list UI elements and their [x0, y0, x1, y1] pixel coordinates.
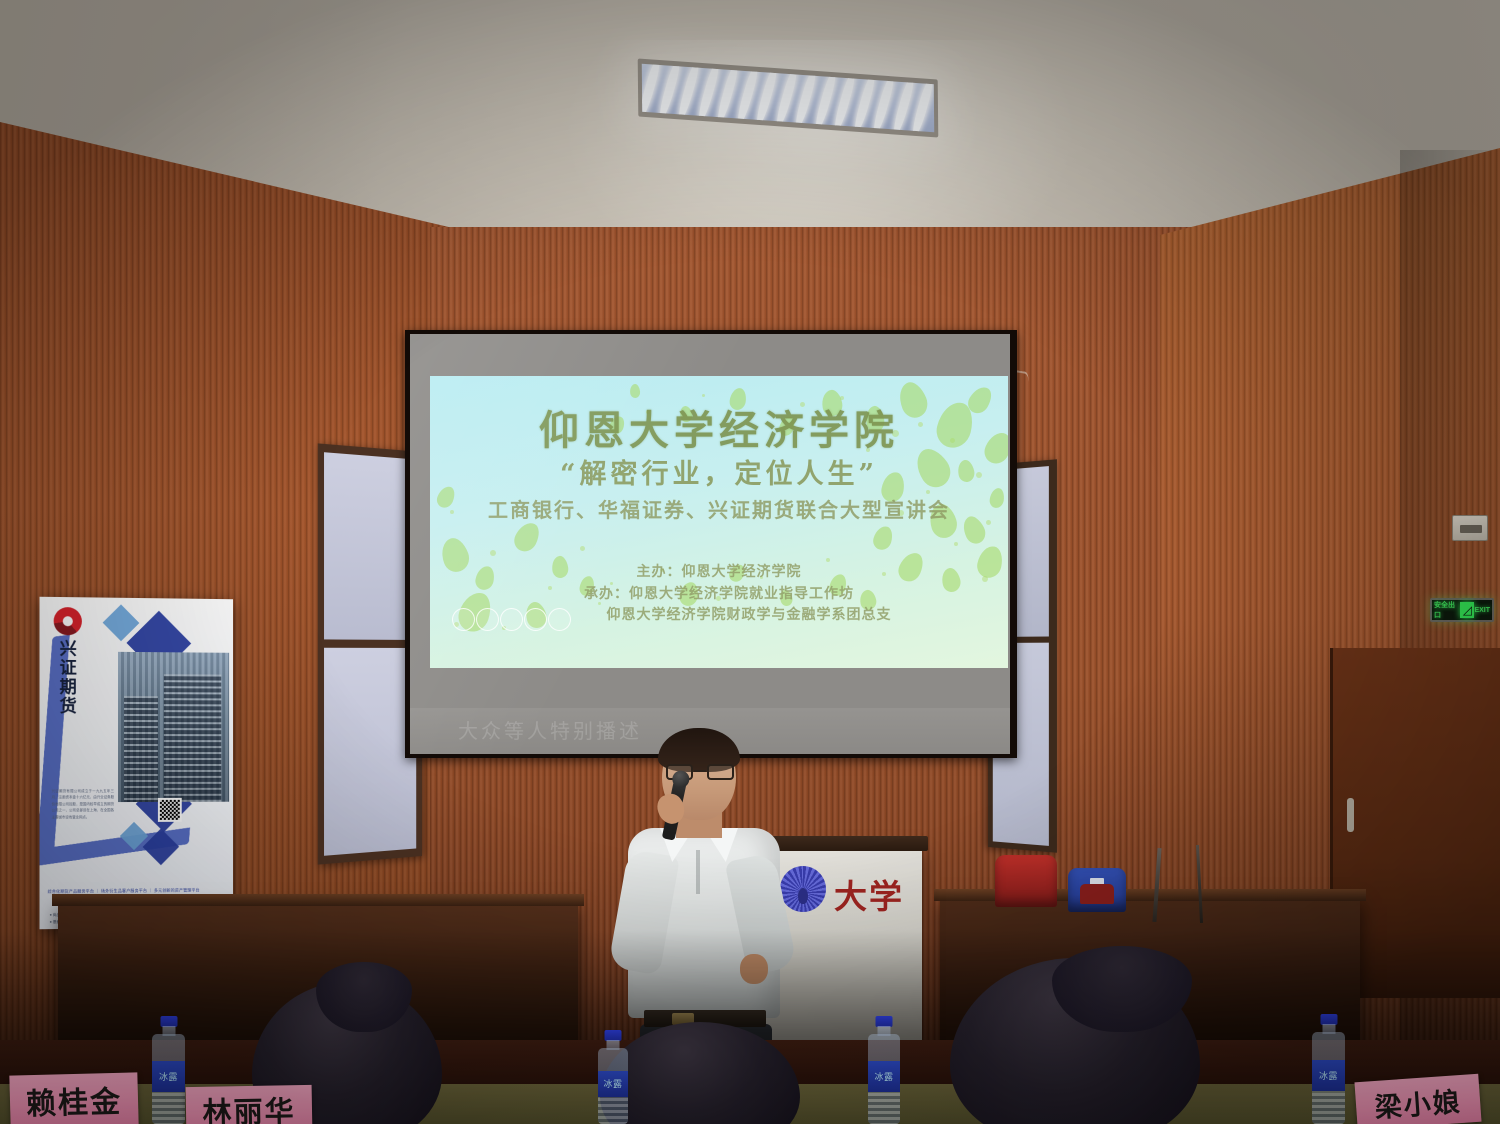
slide-dot-decoration	[954, 542, 958, 546]
building-tower	[124, 696, 158, 802]
slide-leaf-decoration	[511, 519, 544, 556]
projection-screen: 仰恩大学经济学院 “解密行业，定位人生” 工商银行、华福证券、兴证期货联合大型宣…	[410, 334, 1010, 754]
banner-brand-name: 兴证期货	[56, 639, 74, 716]
bottle-label: 冰露	[598, 1071, 628, 1097]
bottle-label-text: 冰露	[874, 1070, 893, 1083]
qr-code	[158, 798, 182, 822]
name-card: 梁小娘	[1354, 1074, 1481, 1124]
bottle-body: 冰露	[598, 1048, 628, 1124]
water-bottle[interactable]: 冰露	[868, 1016, 900, 1124]
name-card-text: 赖桂金	[25, 1077, 122, 1123]
speaker-hand-right	[740, 954, 768, 984]
banner-building-photo	[118, 652, 229, 802]
exit-sign-chinese-label: 安全出口	[1434, 600, 1460, 620]
lecture-hall-photo: 安全出口 ◿ EXIT 仰恩大学经济学院 “解密行业，定位人生” 工商银行、华福…	[0, 0, 1500, 1124]
light-louver	[891, 78, 916, 132]
bottle-label-text: 冰露	[603, 1077, 622, 1090]
exit-sign-panel: 安全出口 ◿ EXIT	[1432, 600, 1492, 620]
lens-right	[707, 764, 734, 780]
presentation-slide: 仰恩大学经济学院 “解密行业，定位人生” 工商银行、华福证券、兴证期货联合大型宣…	[430, 376, 1008, 668]
bottle-body: 冰露	[152, 1034, 185, 1124]
organizer-line: 承办：仰恩大学经济学院就业指导工作坊	[430, 584, 1008, 606]
slide-sponsor-line: 工商银行、华福证券、兴证期货联合大型宣讲会	[430, 494, 1008, 523]
stacked-stool-blue	[1068, 868, 1126, 912]
bottle-ridges	[152, 1093, 185, 1124]
organizer-line: 仰恩大学经济学院财政学与金融学系团总支	[430, 605, 1008, 627]
podium-label: 大学	[834, 870, 904, 918]
light-louver	[676, 64, 701, 120]
whiteboard-pane	[324, 452, 416, 640]
bottle-label: 冰露	[152, 1061, 185, 1092]
bottle-body: 冰露	[868, 1034, 900, 1124]
bottle-label: 冰露	[868, 1061, 900, 1092]
emergency-exit-sign: 安全出口 ◿ EXIT	[1430, 598, 1494, 622]
door-handle[interactable]	[1347, 798, 1354, 832]
slide-title: 仰恩大学经济学院	[430, 398, 1008, 456]
light-louver	[852, 76, 877, 132]
speaker-shirt-placket	[696, 850, 700, 894]
name-card-text: 林丽华	[202, 1088, 296, 1124]
glasses-bridge	[694, 770, 706, 772]
banner-body-text: 兴证期货有限公司成立于一九九五年三月，注册资本金十六亿元，由兴业证券股份有限公司…	[52, 788, 114, 821]
light-louver	[735, 68, 760, 124]
slide-dot-decoration	[490, 550, 496, 556]
water-bottle[interactable]: 冰露	[1312, 1014, 1345, 1124]
slide-leaf-decoration	[629, 384, 640, 399]
light-louver	[774, 70, 799, 126]
water-bottle[interactable]: 冰露	[152, 1016, 185, 1124]
light-louver	[657, 64, 682, 118]
bottle-label: 冰露	[1312, 1060, 1345, 1091]
light-louver	[910, 80, 934, 132]
bottle-label-text: 冰露	[1319, 1069, 1338, 1082]
stacked-stool-red	[995, 855, 1057, 907]
bottle-ridges	[1312, 1093, 1345, 1124]
whiteboard-pane	[324, 648, 416, 856]
slide-leaf-decoration	[871, 524, 895, 552]
slide-dot-decoration	[702, 394, 705, 397]
rollup-banner: 兴证期货 兴证期货有限公司成立于一九九五年三月，注册资本金十六亿元，由兴业证券股…	[40, 597, 234, 929]
name-card-text: 梁小娘	[1373, 1080, 1463, 1124]
light-louver	[754, 69, 779, 125]
banner-logo-icon	[54, 607, 82, 635]
name-card: 林丽华	[186, 1085, 313, 1124]
water-bottle[interactable]: 冰露	[598, 1030, 628, 1124]
wall-socket-plate	[1452, 515, 1488, 541]
light-louver	[696, 65, 721, 121]
running-man-icon: ◿	[1460, 602, 1474, 618]
organizer-line: 主办：仰恩大学经济学院	[430, 562, 1008, 584]
building-tower	[164, 674, 221, 802]
bottle-ridges	[868, 1093, 900, 1124]
exit-sign-english-label: EXIT	[1474, 607, 1490, 614]
light-louver	[642, 64, 662, 117]
light-louver	[871, 77, 896, 132]
light-louver	[832, 74, 857, 130]
name-card: 赖桂金	[9, 1072, 138, 1124]
light-louver	[793, 72, 818, 128]
slide-dot-decoration	[580, 546, 585, 551]
slide-subtitle: “解密行业，定位人生”	[430, 452, 1008, 491]
bottle-label-text: 冰露	[159, 1070, 178, 1083]
stool-label-tag	[1090, 878, 1104, 886]
light-louver	[715, 66, 740, 122]
light-louver	[813, 73, 838, 129]
bottle-body: 冰露	[1312, 1032, 1345, 1124]
slide-organizers: 主办：仰恩大学经济学院 承办：仰恩大学经济学院就业指导工作坊 仰恩大学经济学院财…	[430, 562, 1008, 627]
bottle-ridges	[598, 1098, 628, 1124]
